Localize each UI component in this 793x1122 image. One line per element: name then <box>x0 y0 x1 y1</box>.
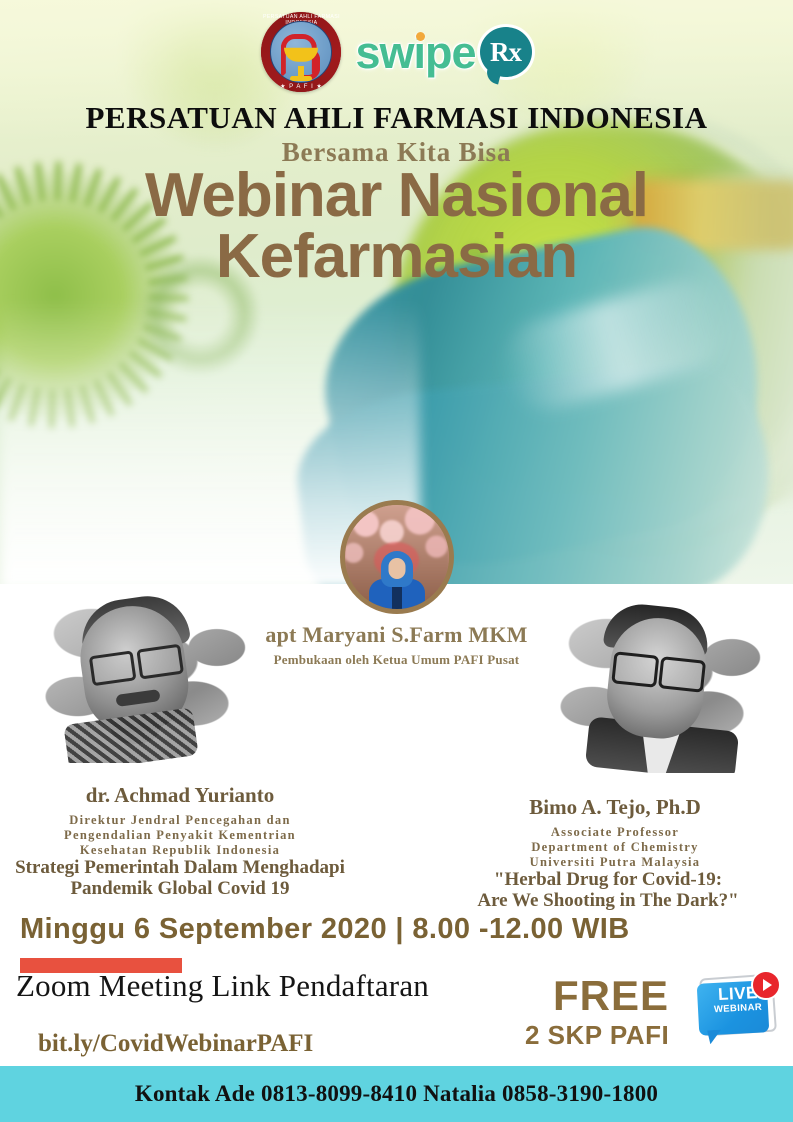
center-speaker-name: apt Maryani S.Farm MKM <box>0 622 793 648</box>
pafi-ring-bottom-text: ★ P A F I ★ <box>261 83 341 90</box>
contact-text: Kontak Ade 0813-8099-8410 Natalia 0858-3… <box>135 1081 658 1107</box>
speaker-affiliation-right: Associate ProfessorDepartment of Chemist… <box>445 825 785 869</box>
registration-heading: Zoom Meeting Link Pendaftaran <box>16 968 429 1004</box>
avatar-face <box>388 558 405 579</box>
center-speaker-block: apt Maryani S.Farm MKM Pembukaan oleh Ke… <box>0 500 793 668</box>
avatar-person <box>368 551 426 609</box>
rx-label: Rx <box>490 37 521 68</box>
main-title-line-2: Kefarmasian <box>0 227 793 288</box>
webinar-poster: PERSATUAN AHLI FARMASI INDONESIA ★ P A F… <box>0 0 793 1122</box>
hygieia-bowl-foot <box>290 76 312 81</box>
price-label: FREE <box>553 972 669 1020</box>
live-webinar-badge-icon: LIVE WEBINAR <box>697 972 779 1044</box>
credits-label: 2 SKP PAFI <box>525 1020 669 1051</box>
swipe-wordmark: swipe <box>355 30 475 75</box>
speaker-topic-left: Strategi Pemerintah Dalam MenghadapiPand… <box>0 857 380 900</box>
main-title-line-1: Webinar Nasional <box>145 161 648 230</box>
pafi-logo-icon: PERSATUAN AHLI FARMASI INDONESIA ★ P A F… <box>261 12 341 92</box>
speaker-topic-right: "Herbal Drug for Covid-19:Are We Shootin… <box>408 869 793 912</box>
center-speaker-role: Pembukaan oleh Ketua Umum PAFI Pusat <box>0 652 793 668</box>
rx-speech-bubble-icon: Rx <box>480 27 532 77</box>
contact-bar: Kontak Ade 0813-8099-8410 Natalia 0858-3… <box>0 1066 793 1122</box>
page-title: Webinar Nasional Kefarmasian <box>0 166 793 288</box>
speaker-name-left: dr. Achmad Yurianto <box>10 783 350 808</box>
swipe-dot-icon <box>416 32 425 41</box>
play-button-icon <box>751 970 781 1000</box>
registration-link[interactable]: bit.ly/CovidWebinarPAFI <box>38 1030 313 1058</box>
logo-row: PERSATUAN AHLI FARMASI INDONESIA ★ P A F… <box>0 8 793 96</box>
event-dateline: Minggu 6 September 2020 | 8.00 -12.00 WI… <box>20 913 630 946</box>
organization-title: PERSATUAN AHLI FARMASI INDONESIA <box>0 100 793 136</box>
swiperx-logo-icon: swipe Rx <box>355 27 531 77</box>
avatar <box>340 500 454 614</box>
speaker-affiliation-left: Direktur Jendral Pencegahan danPengendal… <box>10 813 350 857</box>
speaker-name-right: Bimo A. Tejo, Ph.D <box>445 795 785 820</box>
